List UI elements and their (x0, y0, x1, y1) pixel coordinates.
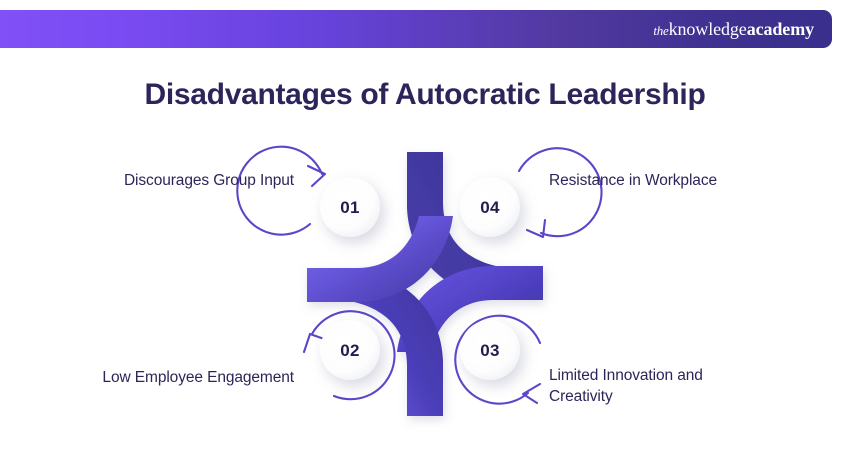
header-bar: theknowledgeacademy (0, 10, 832, 48)
node-circle-01[interactable]: 01 (320, 177, 380, 237)
node-circle-03[interactable]: 03 (460, 320, 520, 380)
node-circle-04[interactable]: 04 (460, 177, 520, 237)
node-number-01: 01 (340, 198, 360, 217)
node-number-02: 02 (340, 341, 360, 360)
diagram-container: 01 04 02 03 Discourages Group Input Low … (0, 140, 850, 430)
label-br-line-1: Limited Innovation and (549, 366, 759, 387)
label-br-line-2: Creativity (549, 387, 759, 408)
node-number-04: 04 (480, 198, 500, 217)
label-limited-innovation-and-creativity: Limited Innovation and Creativity (549, 366, 759, 407)
label-resistance-in-workplace: Resistance in Workplace (549, 171, 717, 192)
node-circle-02[interactable]: 02 (320, 320, 380, 380)
logo-academy-text: academy (747, 19, 814, 39)
brand-logo: theknowledgeacademy (653, 20, 814, 38)
page-title: Disadvantages of Autocratic Leadership (0, 78, 850, 112)
node-number-03: 03 (480, 341, 500, 360)
logo-the-text: the (653, 23, 668, 38)
label-low-employee-engagement: Low Employee Engagement (102, 368, 294, 389)
logo-knowledge-text: knowledge (669, 19, 747, 39)
arrow-04 (519, 148, 602, 237)
label-discourages-group-input: Discourages Group Input (124, 171, 294, 192)
